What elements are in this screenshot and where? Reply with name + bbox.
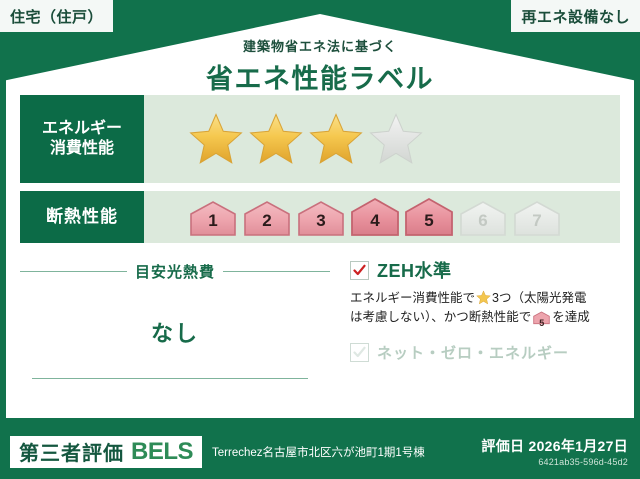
energy-star-rating — [188, 111, 424, 167]
check-icon-disabled — [353, 346, 366, 359]
zeh-desc-part1: エネルギー消費性能で — [350, 291, 475, 305]
insulation-level-4: 4 — [350, 197, 400, 238]
energy-label-line2: 消費性能 — [50, 139, 114, 159]
insulation-level-5: 5 — [404, 197, 454, 238]
bels-en-text: BELS — [131, 438, 193, 466]
label-footer: 第三者評価 BELS Terrechez名古屋市北区六が池町1期1号棟 評価日 … — [0, 424, 640, 479]
insulation-performance-label-chip: 断熱性能 — [20, 191, 144, 243]
zeh-description: エネルギー消費性能で3つ（太陽光発電 は考慮しない）、かつ断熱性能で5を達成 — [350, 289, 620, 332]
evaluation-id: 6421ab35-596d-45d2 — [481, 457, 628, 467]
insulation-level-scale: 1 2 3 — [188, 197, 562, 238]
zeh-desc-house-level: 5 — [533, 317, 550, 331]
bels-jp-text: 第三者評価 — [19, 437, 124, 466]
utility-cost-heading-text: 目安光熱費 — [135, 261, 215, 282]
zeh-desc-star-count: 3つ（太陽光発電 — [492, 291, 586, 305]
insulation-level-2-number: 2 — [242, 211, 292, 231]
insulation-level-7-number: 7 — [512, 211, 562, 231]
net-zero-energy-row: ネット・ゼロ・エネルギー — [350, 342, 620, 363]
insulation-level-1-number: 1 — [188, 211, 238, 231]
utility-cost-value: なし — [20, 316, 330, 348]
check-icon — [353, 264, 366, 277]
energy-performance-label-chip: エネルギー 消費性能 — [20, 95, 144, 183]
energy-performance-row: エネルギー 消費性能 — [20, 95, 620, 183]
insulation-level-4-number: 4 — [350, 211, 400, 231]
insulation-level-6: 6 — [458, 200, 508, 238]
badge-building-type-text: 住宅（住戸） — [10, 6, 103, 27]
divider-left — [20, 271, 127, 272]
badge-building-type: 住宅（住戸） — [0, 0, 115, 32]
badge-renewable-equipment-text: 再エネ設備なし — [521, 6, 630, 27]
evaluation-info: 評価日 2026年1月27日 6421ab35-596d-45d2 — [481, 436, 628, 467]
star-icon-empty — [368, 111, 424, 167]
evaluation-date: 評価日 2026年1月27日 — [481, 436, 628, 456]
divider-right — [223, 271, 330, 272]
building-name: Terrechez名古屋市北区六が池町1期1号棟 — [212, 444, 425, 460]
energy-performance-label: 住宅（住戸） 再エネ設備なし 建築物省エネ法に基づく 省エネ性能ラベル エネルギ… — [0, 0, 640, 479]
badge-renewable-equipment: 再エネ設備なし — [509, 0, 640, 32]
insulation-level-5-number: 5 — [404, 211, 454, 231]
insulation-level-3-number: 3 — [296, 211, 346, 231]
bels-logo: 第三者評価 BELS — [10, 436, 202, 468]
insulation-level-6-number: 6 — [458, 211, 508, 231]
zeh-desc-part3: を達成 — [552, 310, 590, 324]
utility-cost-heading: 目安光熱費 — [20, 261, 330, 282]
insulation-performance-row: 断熱性能 1 2 — [20, 191, 620, 243]
insulation-label: 断熱性能 — [46, 206, 118, 227]
net-zero-energy-label: ネット・ゼロ・エネルギー — [377, 342, 569, 363]
utility-cost-bottom-rule — [32, 378, 308, 379]
zeh-section: ZEH水準 エネルギー消費性能で3つ（太陽光発電 は考慮しない）、かつ断熱性能で… — [330, 251, 620, 401]
star-icon — [308, 111, 364, 167]
bottom-columns: 目安光熱費 なし ZEH水準 エネルギー消費性能で3つ（太陽光発電 — [20, 251, 620, 401]
star-icon-inline — [476, 290, 491, 305]
house-icon-inline: 5 — [533, 311, 550, 331]
utility-cost-section: 目安光熱費 なし — [20, 251, 330, 401]
star-icon — [188, 111, 244, 167]
zeh-heading: ZEH水準 — [350, 257, 620, 283]
label-content: エネルギー 消費性能 — [20, 95, 620, 407]
star-icon — [248, 111, 304, 167]
insulation-level-2: 2 — [242, 200, 292, 238]
zeh-desc-part2: は考慮しない）、かつ断熱性能で — [350, 310, 531, 324]
energy-label-line1: エネルギー — [42, 119, 122, 139]
insulation-level-7: 7 — [512, 200, 562, 238]
zeh-checkbox[interactable] — [350, 261, 369, 280]
insulation-level-3: 3 — [296, 200, 346, 238]
zeh-title: ZEH水準 — [377, 257, 452, 283]
net-zero-energy-checkbox[interactable] — [350, 343, 369, 362]
insulation-level-1: 1 — [188, 200, 238, 238]
